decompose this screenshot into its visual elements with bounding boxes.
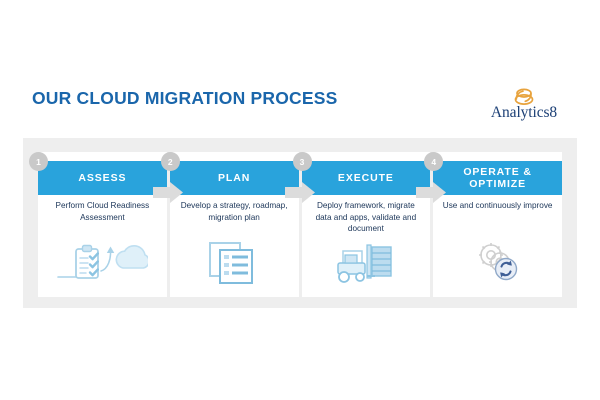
flow-arrow-icon [285, 182, 315, 203]
stacked-documents-icon [170, 235, 299, 289]
process-step-operate-optimize[interactable]: 4 OPERATE & OPTIMIZE Use and continuousl… [433, 152, 562, 297]
gears-sync-icon [433, 235, 562, 289]
brand-logo: Analytics8 [478, 86, 570, 128]
flow-arrow-icon [416, 182, 446, 203]
process-steps-row: 1 ASSESS Perform Cloud Readiness Assessm… [38, 152, 562, 297]
step-number-badge: 1 [29, 152, 48, 171]
process-step-execute[interactable]: 3 EXECUTE Deploy framework, migrate data… [302, 152, 431, 297]
analytics8-disk-icon [511, 86, 537, 106]
slide-canvas: OUR CLOUD MIGRATION PROCESS Analytics8 1… [0, 0, 600, 400]
step-title: EXECUTE [302, 161, 431, 195]
step-description: Perform Cloud Readiness Assessment [38, 200, 167, 223]
process-diagram-panel: 1 ASSESS Perform Cloud Readiness Assessm… [23, 138, 577, 308]
step-number-badge: 3 [293, 152, 312, 171]
page-title: OUR CLOUD MIGRATION PROCESS [32, 88, 338, 109]
step-title: OPERATE & OPTIMIZE [433, 161, 562, 195]
step-description: Develop a strategy, roadmap, migration p… [170, 200, 299, 223]
forklift-icon [302, 235, 431, 289]
step-title: PLAN [170, 161, 299, 195]
step-description: Use and continuously improve [433, 200, 562, 212]
step-description: Deploy framework, migrate data and apps,… [302, 200, 431, 235]
step-title: ASSESS [38, 161, 167, 195]
brand-logo-text: Analytics8 [478, 105, 570, 121]
step-number-badge: 2 [161, 152, 180, 171]
process-step-plan[interactable]: 2 PLAN Develop a strategy, roadmap, migr… [170, 152, 299, 297]
slide-header: OUR CLOUD MIGRATION PROCESS Analytics8 [0, 88, 600, 130]
clipboard-to-cloud-icon [38, 235, 167, 289]
flow-arrow-icon [153, 182, 183, 203]
process-step-assess[interactable]: 1 ASSESS Perform Cloud Readiness Assessm… [38, 152, 167, 297]
